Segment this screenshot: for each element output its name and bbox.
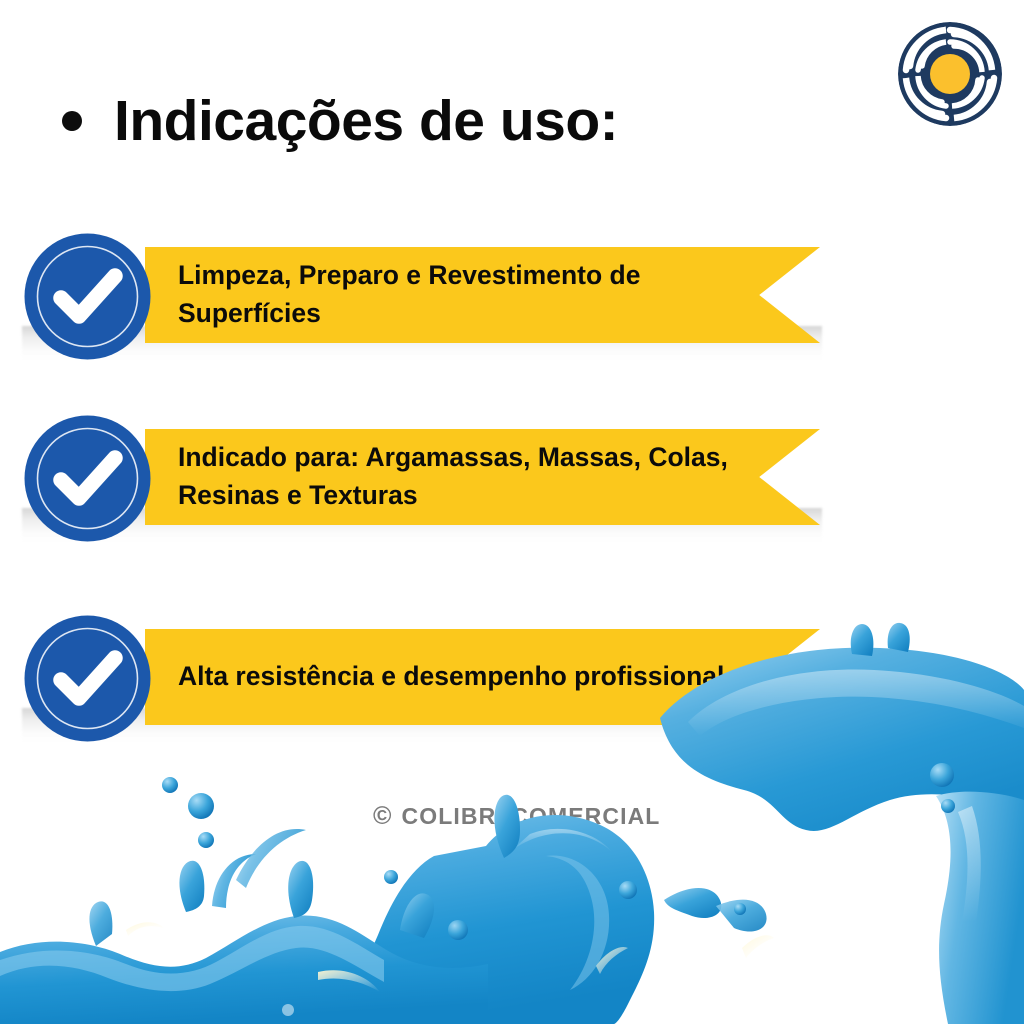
benefit-row: Indicado para: Argamassas, Massas, Colas… xyxy=(0,412,1024,544)
benefit-label: Indicado para: Argamassas, Massas, Colas… xyxy=(178,429,768,525)
check-circle-icon xyxy=(23,614,152,743)
bullet-dot-icon xyxy=(62,111,82,131)
slide-canvas: Indicações de uso: Limpeza, Preparo e Re… xyxy=(0,0,1024,1024)
benefit-label: Limpeza, Preparo e Revestimento de Super… xyxy=(178,247,768,343)
watermark-text: COLIBRI COMERCIAL xyxy=(402,803,661,830)
check-circle-icon xyxy=(23,232,152,361)
benefit-row: Alta resistência e desempenho profission… xyxy=(0,612,1024,744)
check-circle-icon xyxy=(23,414,152,543)
page-title-text: Indicações de uso: xyxy=(114,93,618,150)
benefit-row: Limpeza, Preparo e Revestimento de Super… xyxy=(0,230,1024,362)
page-title: Indicações de uso: xyxy=(62,86,618,156)
copyright-icon: © xyxy=(373,804,393,829)
colibri-spiral-logo-icon xyxy=(896,20,1004,128)
benefit-label: Alta resistência e desempenho profission… xyxy=(178,629,768,725)
watermark: © COLIBRI COMERCIAL xyxy=(373,803,660,830)
